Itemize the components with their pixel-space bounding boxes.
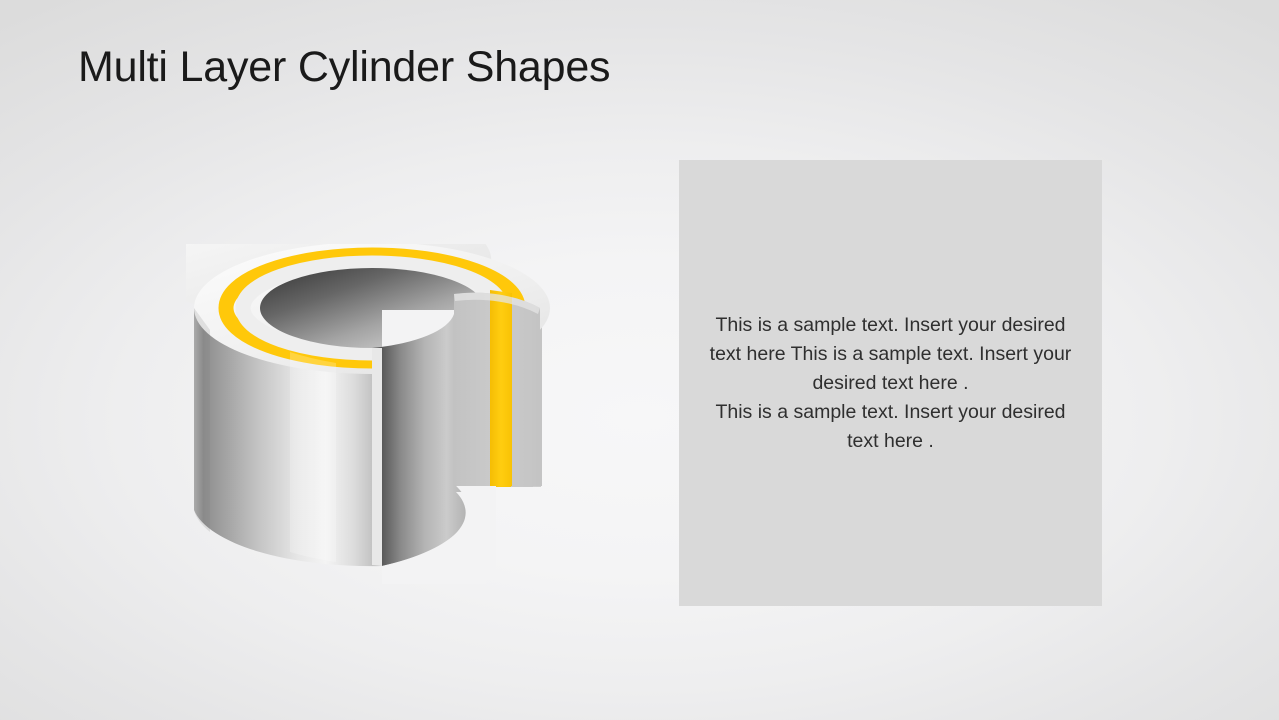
cylinder-artwork-svg bbox=[186, 244, 566, 594]
barrel-highlight bbox=[290, 352, 336, 562]
content-panel[interactable]: This is a sample text. Insert your desir… bbox=[679, 160, 1102, 606]
slide-canvas: Multi Layer Cylinder Shapes bbox=[0, 0, 1279, 720]
cylinder-artwork[interactable] bbox=[186, 244, 566, 594]
barrel-left-shade bbox=[194, 308, 210, 532]
panel-paragraph-1: This is a sample text. Insert your desir… bbox=[701, 311, 1080, 398]
cut-face-left bbox=[372, 348, 382, 566]
page-title: Multi Layer Cylinder Shapes bbox=[78, 40, 610, 94]
panel-paragraph-2: This is a sample text. Insert your desir… bbox=[701, 398, 1080, 456]
cut-face-front bbox=[454, 290, 540, 486]
